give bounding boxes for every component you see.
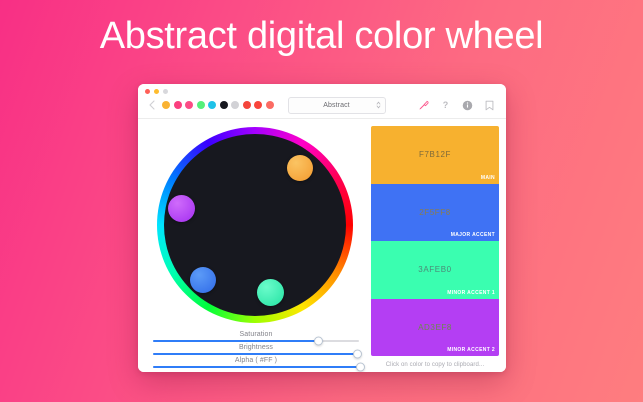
alpha-slider-fill <box>153 366 359 368</box>
page-title: Abstract digital color wheel <box>0 10 643 62</box>
close-button[interactable] <box>145 89 150 94</box>
toolbar-icons: ? <box>418 100 498 111</box>
app-window: Abstract ? <box>138 84 506 372</box>
palette-select-value: Abstract <box>323 102 349 109</box>
brightness-slider-knob[interactable] <box>353 350 362 359</box>
palette-dots-row <box>162 101 274 109</box>
swatch-minor-accent-2-hex: AD3EF8 <box>418 323 452 332</box>
brightness-slider[interactable] <box>153 353 359 355</box>
app-body: Saturation Brightness Alpha ( #FF ) <box>138 119 506 372</box>
swatch-pane: F7B12F MAIN 2F5FF8 MAJOR ACCENT 3AFEB0 M… <box>371 126 499 370</box>
palette-dot-pink-2[interactable] <box>185 101 193 109</box>
maximize-button[interactable] <box>163 89 168 94</box>
eyedropper-icon[interactable] <box>418 100 429 111</box>
alpha-slider-row: Alpha ( #FF ) <box>153 357 359 368</box>
brightness-slider-label: Brightness <box>153 344 359 351</box>
swatch-major-accent-hex: 2F5FF8 <box>419 208 451 217</box>
window-traffic-lights <box>145 89 168 94</box>
saturation-slider-row: Saturation <box>153 331 359 342</box>
palette-dot-red[interactable] <box>243 101 251 109</box>
alpha-slider-knob[interactable] <box>356 363 365 372</box>
color-wheel-pane: Saturation Brightness Alpha ( #FF ) <box>147 126 363 370</box>
sliders-section: Saturation Brightness Alpha ( #FF ) <box>147 331 363 370</box>
swatch-minor-accent-2[interactable]: AD3EF8 MINOR ACCENT 2 <box>371 299 499 357</box>
brightness-slider-row: Brightness <box>153 344 359 355</box>
wheel-handle-purple[interactable] <box>168 195 195 222</box>
palette-dot-green[interactable] <box>197 101 205 109</box>
palette-dot-gray[interactable] <box>231 101 239 109</box>
palette-dot-red-2[interactable] <box>254 101 262 109</box>
minimize-button[interactable] <box>154 89 159 94</box>
alpha-slider[interactable] <box>153 366 359 368</box>
color-wheel[interactable] <box>157 127 353 323</box>
wheel-handle-orange[interactable] <box>287 155 313 181</box>
brightness-slider-fill <box>153 353 357 355</box>
palette-dot-salmon[interactable] <box>266 101 274 109</box>
swatch-main-role: MAIN <box>481 175 495 181</box>
swatch-minor-accent-1-role: MINOR ACCENT 1 <box>447 290 495 296</box>
saturation-slider-fill <box>153 340 318 342</box>
palette-dot-pink[interactable] <box>174 101 182 109</box>
info-icon[interactable] <box>462 100 473 111</box>
app-toolbar: Abstract ? <box>138 84 506 119</box>
chevron-updown-icon <box>376 101 381 110</box>
palette-dot-cyan[interactable] <box>208 101 216 109</box>
wheel-handle-blue[interactable] <box>190 267 216 293</box>
swatch-stack: F7B12F MAIN 2F5FF8 MAJOR ACCENT 3AFEB0 M… <box>371 126 499 356</box>
help-icon[interactable]: ? <box>440 100 451 111</box>
palette-dot-orange[interactable] <box>162 101 170 109</box>
color-wheel-center[interactable] <box>164 134 346 316</box>
swatch-minor-accent-1[interactable]: 3AFEB0 MINOR ACCENT 1 <box>371 241 499 299</box>
saturation-slider-label: Saturation <box>153 331 359 338</box>
bookmark-icon[interactable] <box>484 100 495 111</box>
swatch-major-accent[interactable]: 2F5FF8 MAJOR ACCENT <box>371 184 499 242</box>
swatch-major-accent-role: MAJOR ACCENT <box>451 232 495 238</box>
copy-hint: Click on color to copy to clipboard... <box>371 356 499 370</box>
swatch-minor-accent-1-hex: 3AFEB0 <box>418 265 451 274</box>
palette-dot-black[interactable] <box>220 101 228 109</box>
saturation-slider-knob[interactable] <box>314 337 323 346</box>
palette-select[interactable]: Abstract <box>288 97 386 114</box>
swatch-main-hex: F7B12F <box>419 150 451 159</box>
wheel-handle-green[interactable] <box>257 279 284 306</box>
swatch-main[interactable]: F7B12F MAIN <box>371 126 499 184</box>
swatch-minor-accent-2-role: MINOR ACCENT 2 <box>447 347 495 353</box>
saturation-slider[interactable] <box>153 340 359 342</box>
alpha-slider-label: Alpha ( #FF ) <box>153 357 359 364</box>
chevron-left-icon[interactable] <box>146 98 158 112</box>
